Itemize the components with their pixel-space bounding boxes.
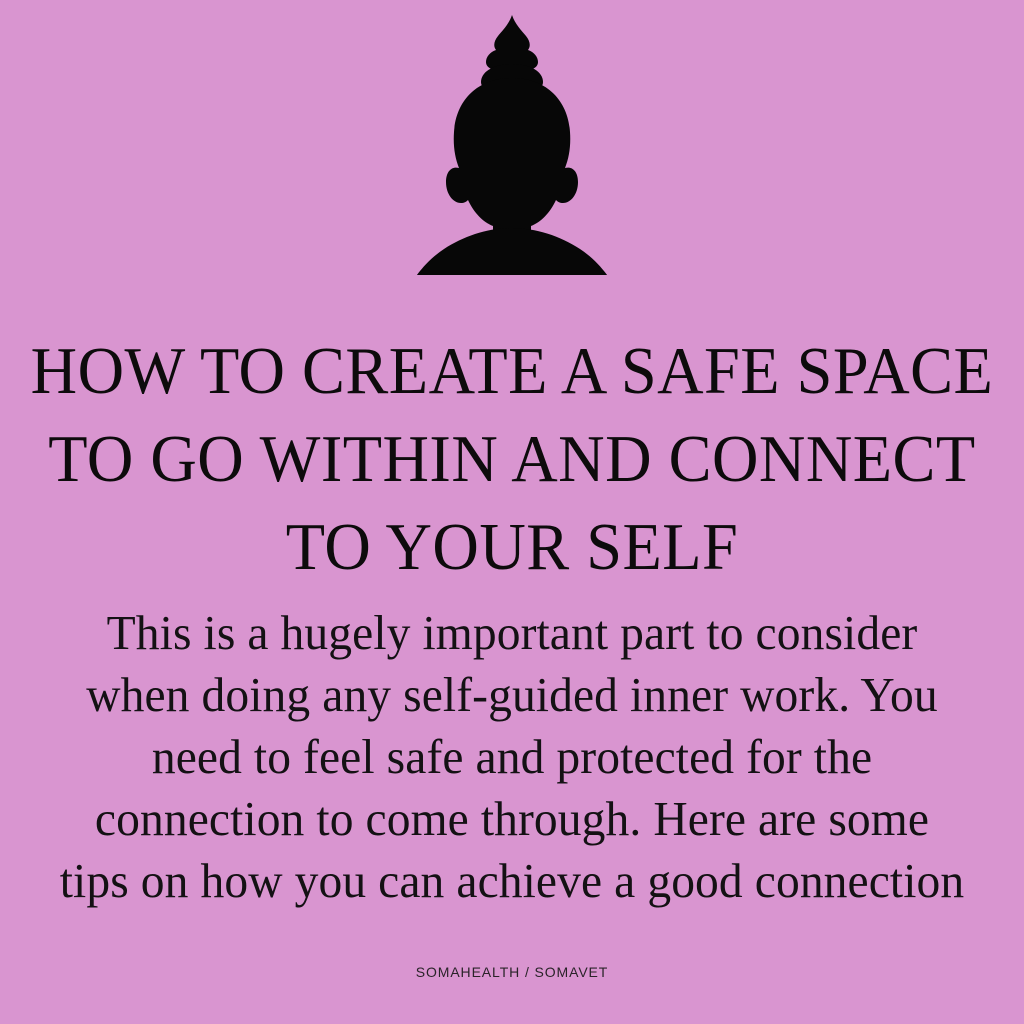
body-line-2: when doing any self-guided inner work. Y… bbox=[15, 664, 1008, 726]
body-line-1: This is a hugely important part to consi… bbox=[15, 602, 1008, 664]
buddha-lotus-silhouette bbox=[0, 0, 1024, 275]
body-line-5: tips on how you can achieve a good conne… bbox=[15, 850, 1008, 912]
body-paragraph: This is a hugely important part to consi… bbox=[15, 602, 1008, 912]
footer-credit: SOMAHEALTH / SOMAVET bbox=[0, 964, 1024, 980]
headline-line-2: TO GO WITHIN AND CONNECT bbox=[20, 415, 1003, 503]
body-line-4: connection to come through. Here are som… bbox=[15, 788, 1008, 850]
page-title: HOW TO CREATE A SAFE SPACE TO GO WITHIN … bbox=[20, 327, 1003, 591]
poster-canvas: HOW TO CREATE A SAFE SPACE TO GO WITHIN … bbox=[0, 0, 1024, 1024]
headline-line-3: TO YOUR SELF bbox=[20, 503, 1003, 591]
headline-line-1: HOW TO CREATE A SAFE SPACE bbox=[20, 327, 1003, 415]
body-line-3: need to feel safe and protected for the bbox=[15, 726, 1008, 788]
